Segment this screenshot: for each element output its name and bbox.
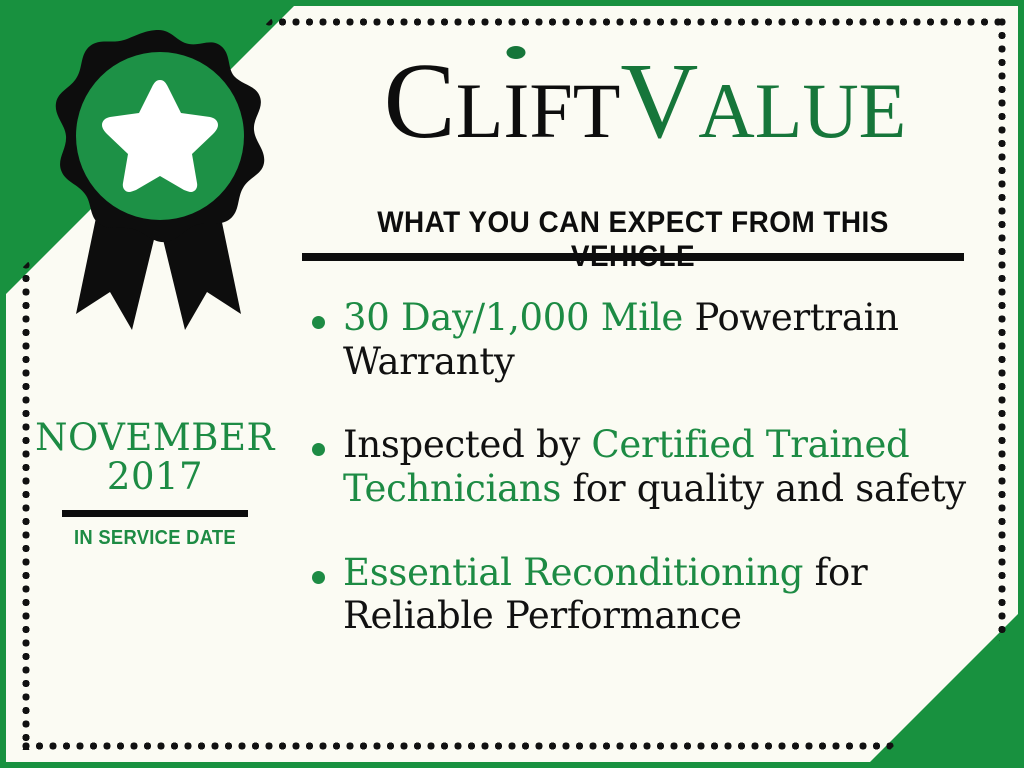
logo-clift-i: I — [503, 67, 529, 154]
logo-value-alue: ALUE — [698, 67, 906, 154]
clift-value-vehicle-badge-poster: CLIFTVALUE WHAT YOU CAN EXPECT FROM THIS… — [0, 0, 1024, 768]
in-service-date-month: NOVEMBER — [20, 418, 290, 457]
bullet-dot-icon — [312, 316, 325, 329]
dotted-border-bottom — [22, 742, 1006, 750]
expectations-bullet-list: 30 Day/1,000 Mile Powertrain WarrantyIns… — [312, 296, 972, 678]
bullet-text-segment: Inspected by — [343, 423, 591, 466]
bullet-item: 30 Day/1,000 Mile Powertrain Warranty — [312, 296, 972, 383]
bullet-text-segment: 30 Day/1,000 Mile — [343, 296, 683, 339]
bullet-dot-icon — [312, 571, 325, 584]
logo-i-dot-icon — [507, 46, 526, 59]
bullet-text: 30 Day/1,000 Mile Powertrain Warranty — [343, 296, 972, 383]
bullet-item: Essential Reconditioning for Reliable Pe… — [312, 551, 972, 638]
logo-clift-i-wrap: I — [503, 48, 529, 156]
in-service-date-year: 2017 — [20, 457, 290, 496]
subtitle-what-you-can-expect: WHAT YOU CAN EXPECT FROM THIS VEHICLE — [323, 206, 942, 274]
bullet-text-segment: for quality and safety — [561, 467, 966, 510]
logo-clift-c: C — [384, 42, 456, 161]
logo-value: VALUE — [620, 42, 906, 161]
award-ribbon-star-icon — [36, 18, 281, 338]
logo-clift-l: L — [456, 67, 504, 154]
in-service-date-label: IN SERVICE DATE — [31, 527, 279, 550]
bullet-text-segment — [683, 296, 694, 339]
logo-clift-ft: FT — [529, 67, 620, 154]
bullet-item: Inspected by Certified Trained Technicia… — [312, 423, 972, 510]
in-service-date-block: NOVEMBER 2017 IN SERVICE DATE — [20, 418, 290, 550]
logo-clift: CLIFT — [384, 42, 621, 161]
bullet-dot-icon — [312, 443, 325, 456]
in-service-date-rule — [62, 510, 248, 517]
bullet-text: Inspected by Certified Trained Technicia… — [343, 423, 972, 510]
bullet-text-segment: Essential Reconditioning — [343, 551, 803, 594]
bullet-text: Essential Reconditioning for Reliable Pe… — [343, 551, 972, 638]
logo-value-v: V — [620, 42, 698, 161]
subtitle-divider-rule — [302, 253, 964, 261]
brand-logo: CLIFTVALUE — [300, 48, 990, 156]
